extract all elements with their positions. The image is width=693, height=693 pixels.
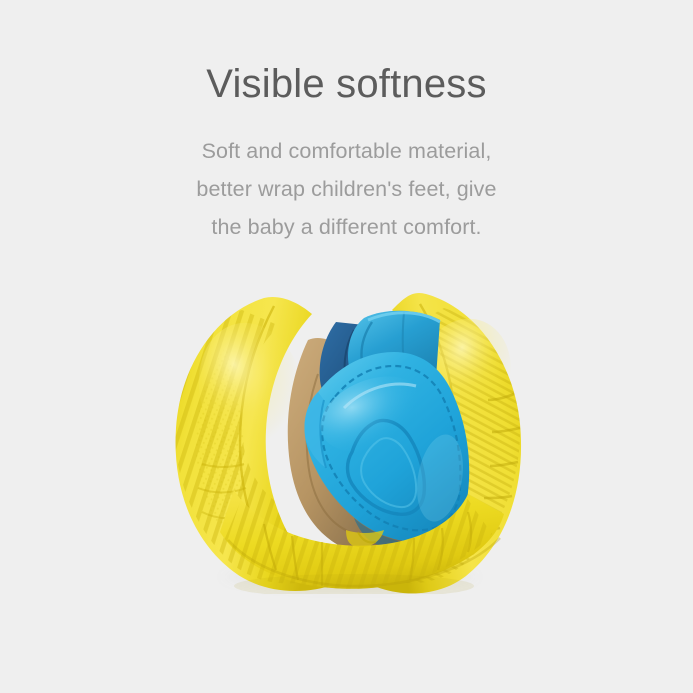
shoe-svg	[168, 282, 526, 594]
text-block: Visible softness Soft and comfortable ma…	[0, 60, 693, 246]
subtitle-line-1: Soft and comfortable material,	[0, 132, 693, 170]
product-image	[168, 282, 526, 594]
subtitle-line-2: better wrap children's feet, give	[0, 170, 693, 208]
page-title: Visible softness	[0, 60, 693, 108]
childrens-shoe-illustration	[168, 282, 526, 594]
subtitle-line-3: the baby a different comfort.	[0, 208, 693, 246]
promo-card: Visible softness Soft and comfortable ma…	[0, 0, 693, 693]
page-subtitle: Soft and comfortable material, better wr…	[0, 132, 693, 246]
